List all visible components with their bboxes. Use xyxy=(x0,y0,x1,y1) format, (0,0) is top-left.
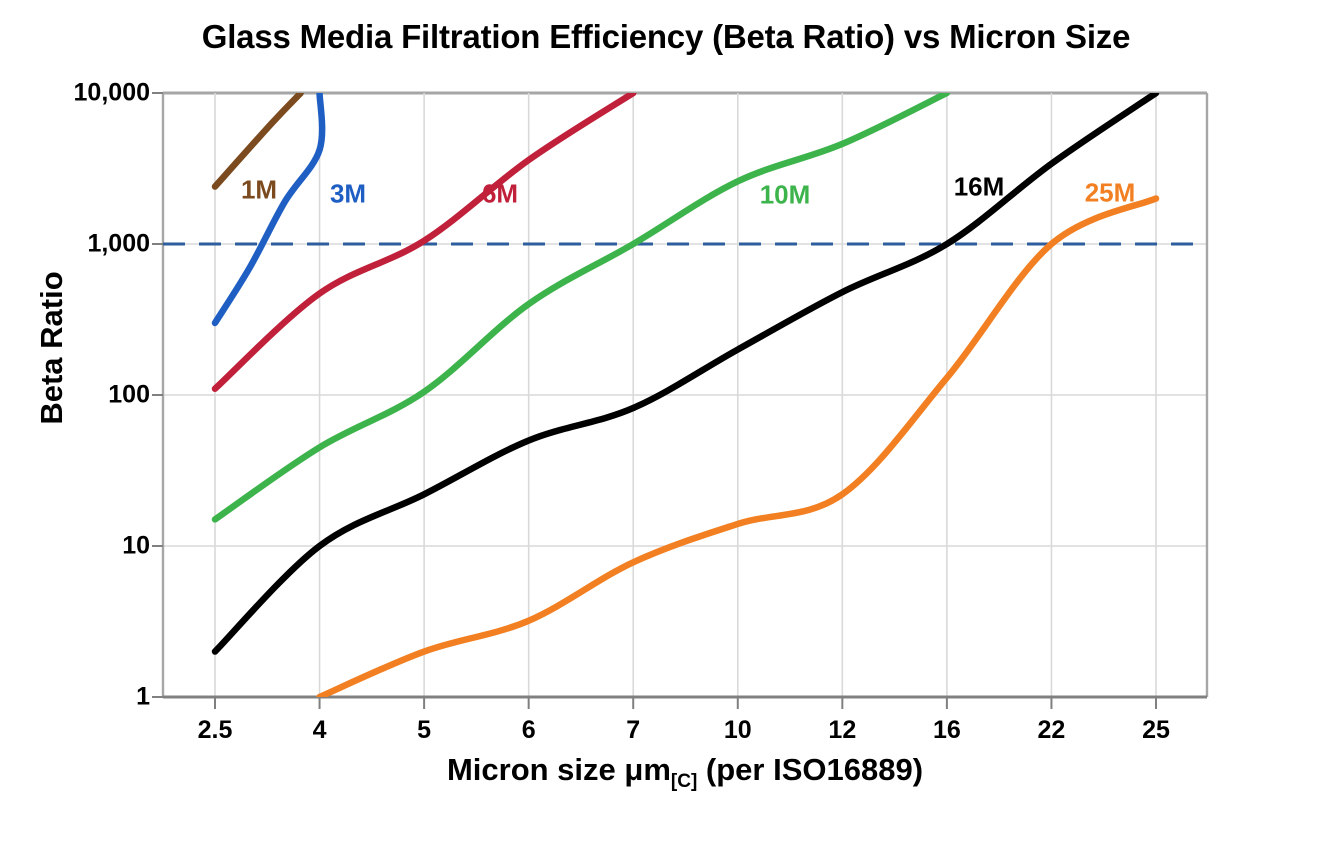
series-line-1m xyxy=(215,93,301,187)
plot-svg xyxy=(0,0,1332,842)
plot-area xyxy=(0,0,1332,842)
series-line-16m xyxy=(215,93,1156,652)
chart-root: Glass Media Filtration Efficiency (Beta … xyxy=(0,0,1332,842)
series-line-10m xyxy=(215,93,947,519)
